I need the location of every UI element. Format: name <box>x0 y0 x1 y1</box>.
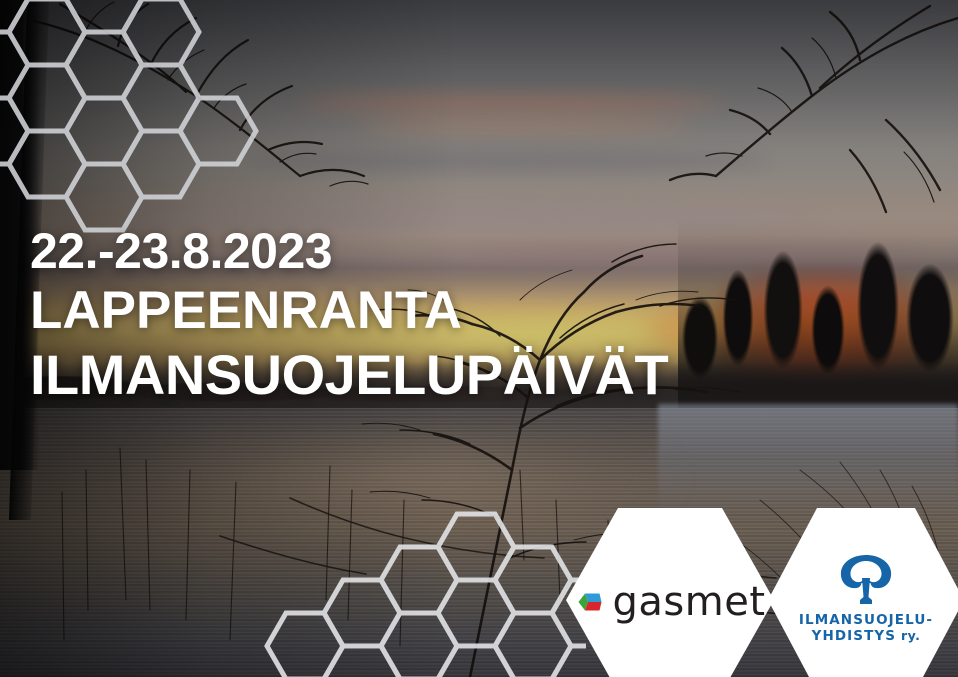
isy-line-1: ILMANSUOJELU- <box>799 612 933 628</box>
gasmet-lockup: gasmet <box>575 579 766 625</box>
hexagon-pattern-top-left <box>0 0 260 234</box>
isy-tree-chimney-icon <box>831 552 901 612</box>
headline-event: ILMANSUOJELUPÄIVÄT <box>30 342 668 408</box>
poster-headline: 22.-23.8.2023 LAPPEENRANTA ILMANSUOJELUP… <box>30 222 668 408</box>
gasmet-cube-icon <box>575 587 605 617</box>
isy-line-2: YHDISTYS ry. <box>799 628 933 644</box>
isy-line-2-suffix: ry. <box>896 628 920 643</box>
event-poster: 22.-23.8.2023 LAPPEENRANTA ILMANSUOJELUP… <box>0 0 958 677</box>
isy-wordmark: ILMANSUOJELU- YHDISTYS ry. <box>799 612 933 644</box>
gasmet-wordmark: gasmet <box>613 579 766 625</box>
headline-date: 22.-23.8.2023 <box>30 222 668 280</box>
isy-lockup: ILMANSUOJELU- YHDISTYS ry. <box>799 552 933 644</box>
isy-line-2-main: YHDISTYS <box>812 628 897 644</box>
hexagon-pattern-bottom <box>256 496 586 677</box>
headline-city: LAPPEENRANTA <box>30 280 668 342</box>
